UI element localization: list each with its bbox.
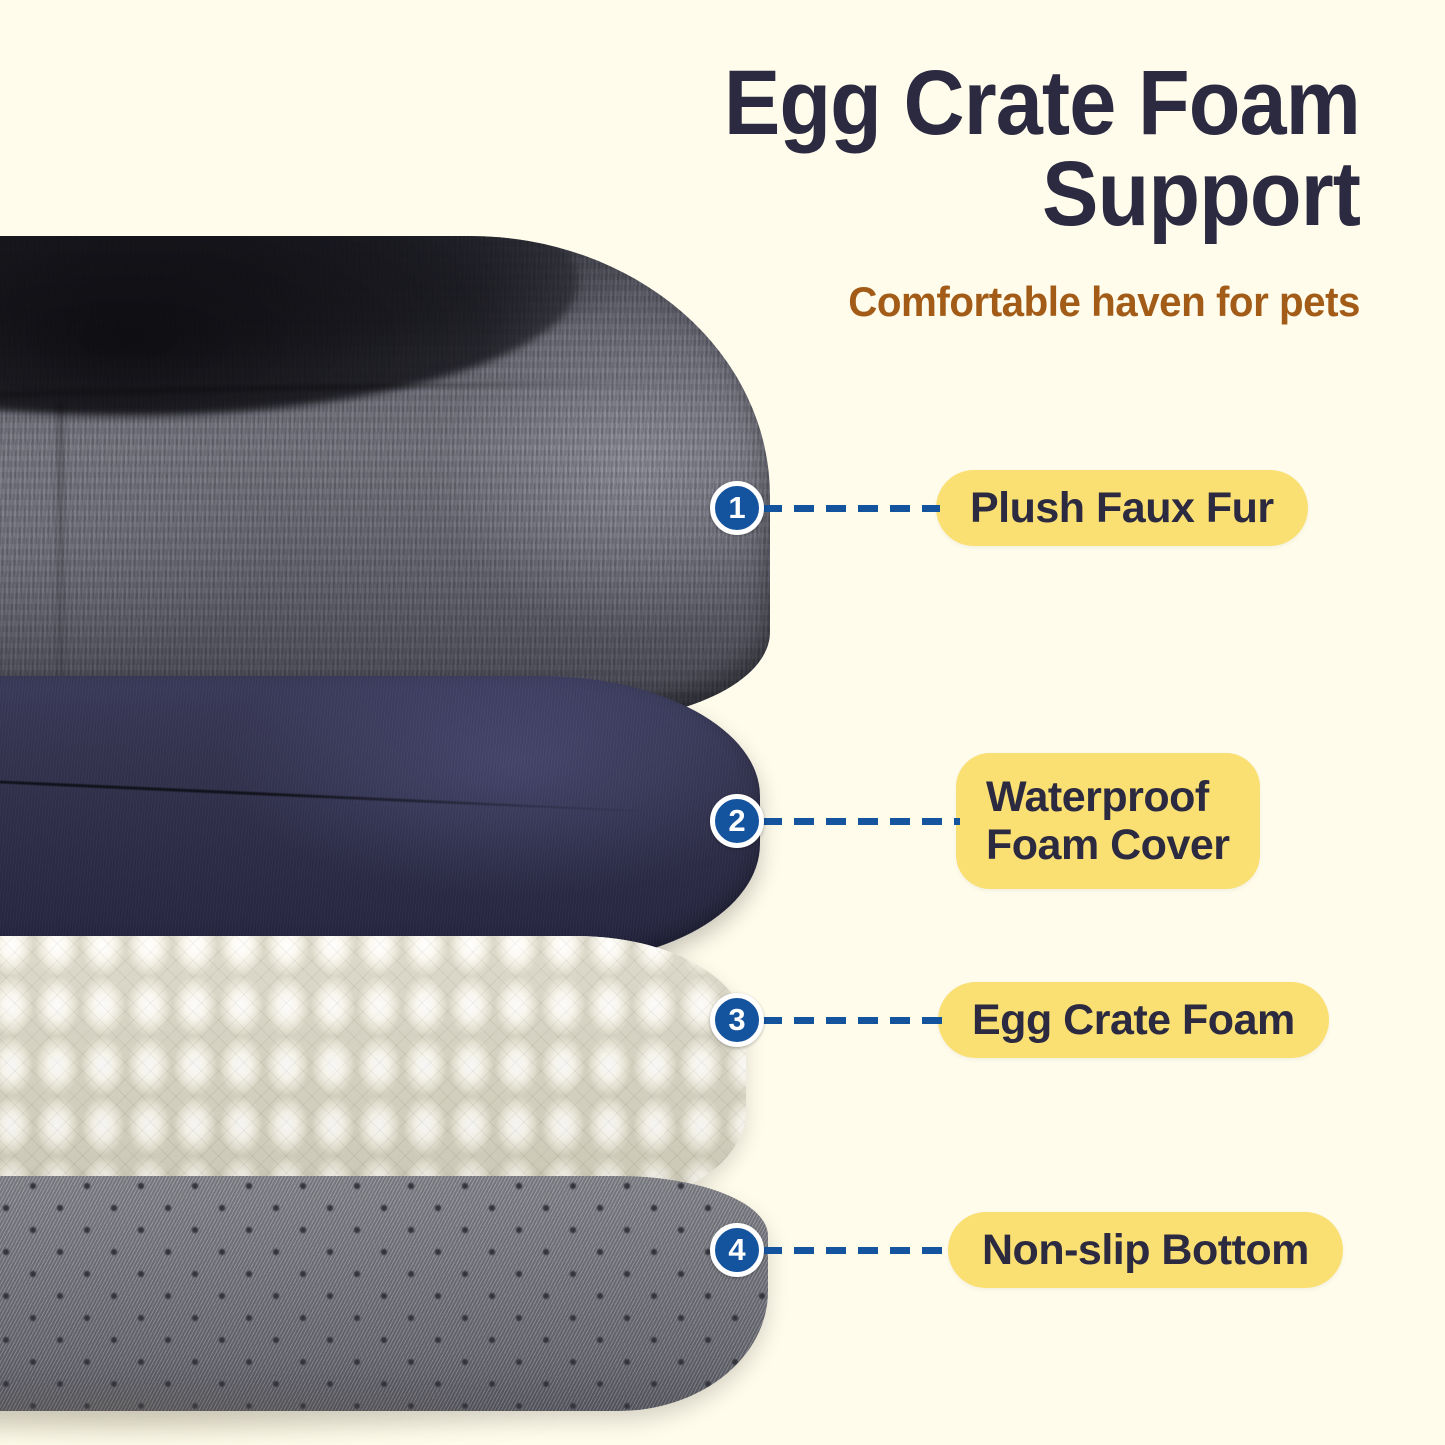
callout-4: 4 Non-slip Bottom <box>710 1212 1343 1288</box>
layer-non-slip-bottom <box>0 1176 768 1411</box>
callout-1: 1 Plush Faux Fur <box>710 470 1308 546</box>
callout-2: 2 Waterproof Foam Cover <box>710 753 1260 889</box>
callout-dash-line-2 <box>762 818 960 825</box>
callout-dash-line-3 <box>762 1017 942 1024</box>
product-image <box>0 236 770 1411</box>
callout-label-1: Plush Faux Fur <box>936 470 1308 546</box>
callout-label-4: Non-slip Bottom <box>948 1212 1343 1288</box>
callout-dash-line-1 <box>762 505 940 512</box>
page-subtitle: Comfortable haven for pets <box>630 278 1360 326</box>
callout-3: 3 Egg Crate Foam <box>710 982 1329 1058</box>
layer-egg-crate-foam <box>0 936 746 1206</box>
fur-fold-crease <box>58 404 63 704</box>
infographic-canvas: Egg Crate Foam Support Comfortable haven… <box>0 0 1445 1445</box>
callout-label-2: Waterproof Foam Cover <box>956 753 1260 889</box>
callout-dash-line-4 <box>762 1247 952 1254</box>
navy-cover-seam <box>0 763 710 815</box>
callout-marker-3: 3 <box>710 993 764 1047</box>
callout-marker-2: 2 <box>710 794 764 848</box>
product-drop-shadow <box>0 1386 560 1445</box>
callout-marker-4: 4 <box>710 1223 764 1277</box>
page-title: Egg Crate Foam Support <box>541 58 1360 240</box>
callout-marker-1: 1 <box>710 481 764 535</box>
layer-waterproof-foam-cover <box>0 676 760 964</box>
callout-label-3: Egg Crate Foam <box>938 982 1329 1058</box>
